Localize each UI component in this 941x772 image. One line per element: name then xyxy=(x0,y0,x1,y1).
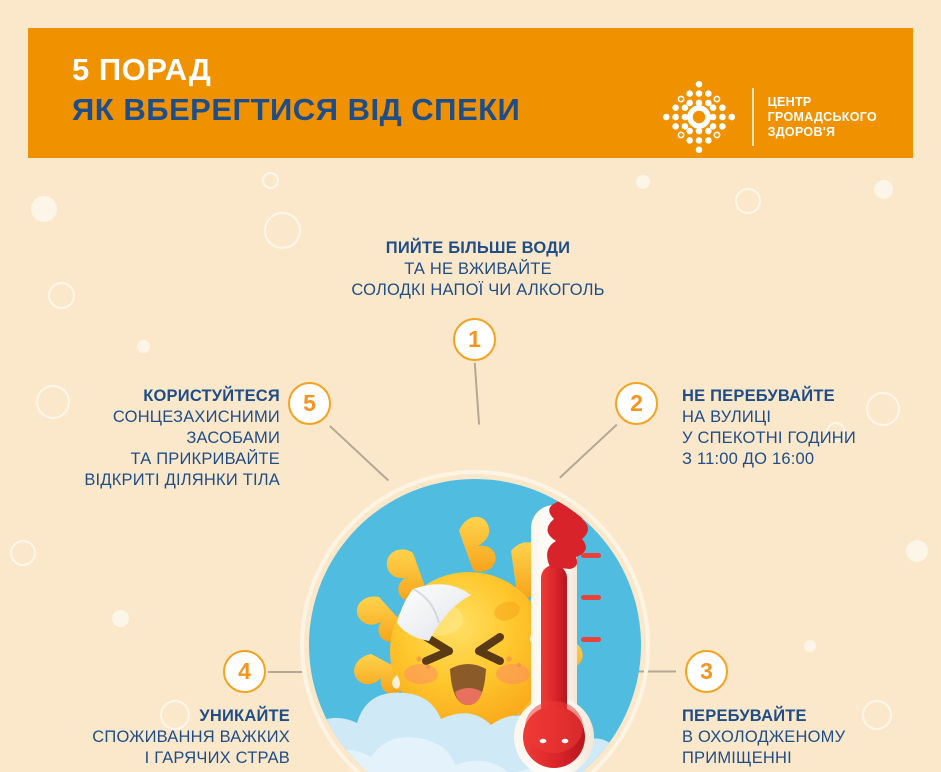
tip-4-line-1: УНИКАЙТЕ xyxy=(20,706,290,727)
tip-1-line-2: ТА НЕ ВЖИВАЙТЕ xyxy=(333,259,623,280)
tip-text-2: НЕ ПЕРЕБУВАЙТЕ НА ВУЛИЦІ У СПЕКОТНІ ГОДИ… xyxy=(682,386,856,470)
tip-text-1: ПИЙТЕ БІЛЬШЕ ВОДИ ТА НЕ ВЖИВАЙТЕ СОЛОДКІ… xyxy=(333,238,623,301)
decor-dot xyxy=(906,540,928,562)
page-title-line1: 5 ПОРАД xyxy=(72,50,520,90)
header-titles: 5 ПОРАД ЯК ВБЕРЕГТИСЯ ВІД СПЕКИ xyxy=(72,50,520,130)
badge-number: 1 xyxy=(468,326,481,353)
page-title-line2: ЯК ВБЕРЕГТИСЯ ВІД СПЕКИ xyxy=(72,90,520,130)
decor-dot xyxy=(112,610,129,627)
badge-tip-2[interactable]: 2 xyxy=(615,382,658,425)
decor-ring xyxy=(866,392,900,426)
tip-text-3: ПЕРЕБУВАЙТЕ В ОХОЛОДЖЕНОМУ ПРИМІЩЕННІ xyxy=(682,706,845,769)
header-bar: 5 ПОРАД ЯК ВБЕРЕГТИСЯ ВІД СПЕКИ xyxy=(28,28,913,158)
decor-ring xyxy=(48,282,75,309)
decor-ring xyxy=(264,212,301,249)
badge-number: 2 xyxy=(630,390,643,417)
decor-dot xyxy=(874,180,893,199)
tip-2-line-3: У СПЕКОТНІ ГОДИНИ xyxy=(682,428,856,449)
decor-ring xyxy=(735,188,761,214)
tip-1-line-3: СОЛОДКІ НАПОЇ ЧИ АЛКОГОЛЬ xyxy=(333,280,623,301)
decor-ring xyxy=(10,540,36,566)
logo-text: ЦЕНТР ГРОМАДСЬКОГО ЗДОРОВ'Я xyxy=(768,95,877,140)
tip-5-line-4: ТА ПРИКРИВАЙТЕ xyxy=(10,449,280,470)
badge-tip-1[interactable]: 1 xyxy=(453,318,496,361)
connector-tip-1 xyxy=(474,363,480,425)
tip-text-5: КОРИСТУЙТЕСЯ СОНЦЕЗАХИСНИМИ ЗАСОБАМИ ТА … xyxy=(10,386,280,491)
tip-2-line-4: З 11:00 ДО 16:00 xyxy=(682,449,856,470)
tip-5-line-5: ВІДКРИТІ ДІЛЯНКИ ТІЛА xyxy=(10,470,280,491)
decor-dot xyxy=(636,175,650,189)
tip-2-line-1: НЕ ПЕРЕБУВАЙТЕ xyxy=(682,386,856,407)
badge-tip-3[interactable]: 3 xyxy=(685,650,728,693)
logo-text-line3: ЗДОРОВ'Я xyxy=(768,125,877,140)
organization-logo: ЦЕНТР ГРОМАДСЬКОГО ЗДОРОВ'Я xyxy=(660,78,877,156)
tip-3-line-2: В ОХОЛОДЖЕНОМУ xyxy=(682,727,845,748)
tip-4-line-2: СПОЖИВАННЯ ВАЖКИХ xyxy=(20,727,290,748)
tip-5-line-2: СОНЦЕЗАХИСНИМИ xyxy=(10,407,280,428)
tip-2-line-2: НА ВУЛИЦІ xyxy=(682,407,856,428)
dot-mandala-icon xyxy=(660,78,738,156)
central-illustration xyxy=(300,470,650,772)
tip-1-line-1: ПИЙТЕ БІЛЬШЕ ВОДИ xyxy=(333,238,623,259)
decor-dot xyxy=(804,640,816,652)
badge-number: 5 xyxy=(303,390,316,417)
badge-number: 4 xyxy=(238,658,251,685)
tip-3-line-1: ПЕРЕБУВАЙТЕ xyxy=(682,706,845,727)
decor-dot xyxy=(137,340,150,353)
infographic-page: 5 ПОРАД ЯК ВБЕРЕГТИСЯ ВІД СПЕКИ xyxy=(0,0,941,772)
badge-tip-4[interactable]: 4 xyxy=(223,650,266,693)
tip-text-4: УНИКАЙТЕ СПОЖИВАННЯ ВАЖКИХ І ГАРЯЧИХ СТР… xyxy=(20,706,290,769)
decor-dot xyxy=(31,196,57,222)
decor-ring xyxy=(862,700,892,730)
badge-number: 3 xyxy=(700,658,713,685)
tip-3-line-3: ПРИМІЩЕННІ xyxy=(682,748,845,769)
logo-text-line2: ГРОМАДСЬКОГО xyxy=(768,110,877,125)
logo-text-line1: ЦЕНТР xyxy=(768,95,877,110)
tip-5-line-1: КОРИСТУЙТЕСЯ xyxy=(10,386,280,407)
tip-5-line-3: ЗАСОБАМИ xyxy=(10,428,280,449)
tip-4-line-3: І ГАРЯЧИХ СТРАВ xyxy=(20,748,290,769)
decor-ring xyxy=(262,172,279,189)
badge-tip-5[interactable]: 5 xyxy=(288,382,331,425)
logo-divider xyxy=(752,88,754,146)
